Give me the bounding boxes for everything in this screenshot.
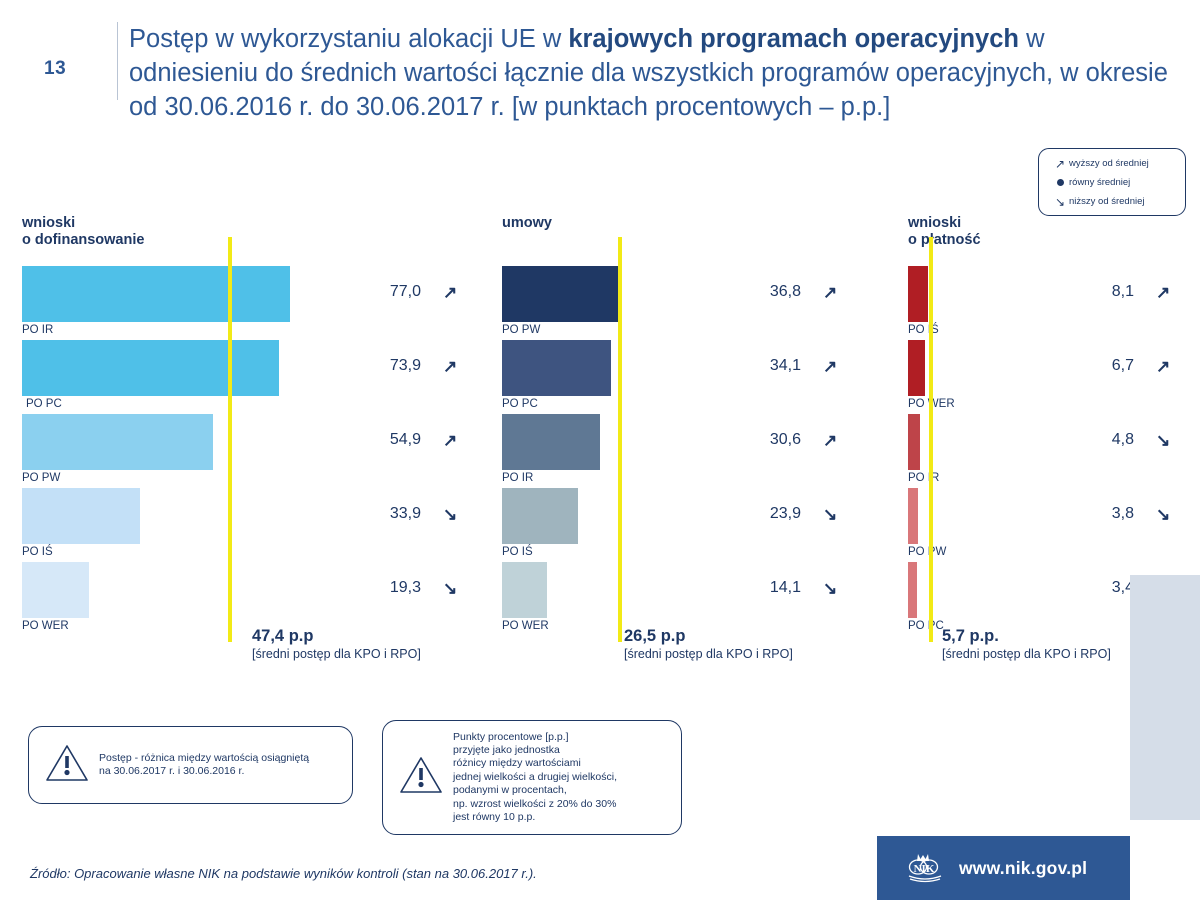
bar-value-group: 4,8↘ — [1088, 431, 1170, 449]
note-box-progress: Postęp - różnica między wartością osiągn… — [28, 726, 353, 804]
average-value: 47,4 p.p — [252, 627, 512, 646]
page-title: Postęp w wykorzystaniu alokacji UE w kra… — [129, 22, 1174, 124]
average-line — [228, 237, 232, 642]
bar-value-group: 3,8↘ — [1088, 505, 1170, 523]
arrow-up-right-icon: ↗ — [823, 432, 837, 449]
note-text: Punkty procentowe [p.p.] przyjęte jako j… — [453, 731, 617, 825]
bar-category-label: PO IR — [22, 324, 53, 336]
bar-value: 19,3 — [375, 579, 421, 597]
arrow-down-right-icon: ↘ — [443, 580, 457, 597]
dot-icon — [1051, 179, 1069, 186]
legend-item-label: niższy od średniej — [1069, 196, 1145, 207]
legend-item-label: równy średniej — [1069, 177, 1130, 188]
bar-value-group: 23,9↘ — [755, 505, 837, 523]
bar-po-wer — [22, 562, 89, 618]
bar-category-label: PO PC — [26, 398, 62, 410]
bar-category-label: PO IŚ — [908, 324, 939, 336]
title-emphasis: krajowych programach operacyjnych — [568, 25, 1019, 53]
title-part-1: Postęp w wykorzystaniu alokacji UE w — [129, 25, 568, 53]
bar-value-group: 54,9↗ — [375, 431, 457, 449]
legend-box: ↗wyższy od średniejrówny średniej↘niższy… — [1038, 148, 1186, 216]
panel-title: wnioski o płatność — [908, 215, 981, 249]
bar-po-iś — [908, 266, 928, 322]
arrow-up-right-icon: ↗ — [1156, 284, 1170, 301]
legend-item-2: ↘niższy od średniej — [1039, 192, 1185, 211]
arrow-up-right-icon: ↗ — [1051, 157, 1069, 171]
average-value: 26,5 p.p — [624, 627, 884, 646]
bar-value-group: 30,6↗ — [755, 431, 837, 449]
bar-po-pw — [502, 266, 620, 322]
slide: 13 Postęp w wykorzystaniu alokacji UE w … — [0, 0, 1200, 900]
panel-title: wnioski o dofinansowanie — [22, 215, 144, 249]
arrow-up-right-icon: ↗ — [443, 358, 457, 375]
svg-text:NIK: NIK — [914, 863, 935, 875]
arrow-down-right-icon: ↘ — [1156, 432, 1170, 449]
page-number: 13 — [44, 58, 66, 80]
bar-po-pc — [908, 562, 917, 618]
bar-category-label: PO PW — [502, 324, 540, 336]
bar-category-label: PO PW — [908, 546, 946, 558]
arrow-up-right-icon: ↗ — [443, 432, 457, 449]
arrow-down-right-icon: ↘ — [823, 506, 837, 523]
bar-value-group: 8,1↗ — [1088, 283, 1170, 301]
header-divider — [117, 22, 118, 100]
bar-value-group: 33,9↘ — [375, 505, 457, 523]
bar-category-label: PO IŚ — [502, 546, 533, 558]
bar-value: 3,4 — [1088, 579, 1134, 597]
bar-category-label: PO WER — [502, 620, 549, 632]
bar-value: 54,9 — [375, 431, 421, 449]
panel-title: umowy — [502, 215, 552, 232]
arrow-down-right-icon: ↘ — [443, 506, 457, 523]
bar-value-group: 73,9↗ — [375, 357, 457, 375]
note-text: Postęp - różnica między wartością osiągn… — [99, 752, 309, 779]
average-line — [618, 237, 622, 642]
arrow-up-right-icon: ↗ — [823, 284, 837, 301]
bar-po-ir — [502, 414, 600, 470]
average-caption: 47,4 p.p[średni postęp dla KPO i RPO] — [252, 627, 512, 662]
bar-po-ir — [908, 414, 920, 470]
legend-item-0: ↗wyższy od średniej — [1039, 154, 1185, 173]
bar-po-pc — [22, 340, 279, 396]
note-box-percentage-points: Punkty procentowe [p.p.] przyjęte jako j… — [382, 720, 682, 835]
bar-value-group: 19,3↘ — [375, 579, 457, 597]
footer-url[interactable]: www.nik.gov.pl — [959, 858, 1087, 879]
bar-value: 36,8 — [755, 283, 801, 301]
average-line — [929, 237, 933, 642]
bar-po-pw — [908, 488, 918, 544]
bar-value: 30,6 — [755, 431, 801, 449]
bar-po-iś — [22, 488, 140, 544]
bar-value: 34,1 — [755, 357, 801, 375]
warning-triangle-icon — [45, 743, 89, 788]
decorative-rectangle — [1130, 575, 1200, 820]
arrow-up-right-icon: ↗ — [1156, 358, 1170, 375]
bar-value-group: 36,8↗ — [755, 283, 837, 301]
arrow-down-right-icon: ↘ — [823, 580, 837, 597]
bar-value-group: 6,7↗ — [1088, 357, 1170, 375]
legend-item-label: wyższy od średniej — [1069, 158, 1149, 169]
footer-bar: NIK www.nik.gov.pl — [877, 836, 1130, 900]
bar-value: 33,9 — [375, 505, 421, 523]
arrow-up-right-icon: ↗ — [443, 284, 457, 301]
bar-category-label: PO WER — [22, 620, 69, 632]
nik-crown-logo-icon: NIK — [905, 849, 945, 888]
average-sublabel: [średni postęp dla KPO i RPO] — [252, 646, 512, 662]
warning-triangle-icon — [399, 755, 443, 800]
bar-category-label: PO IŚ — [22, 546, 53, 558]
bar-value-group: 34,1↗ — [755, 357, 837, 375]
bar-po-ir — [22, 266, 290, 322]
source-note: Źródło: Opracowanie własne NIK na podsta… — [30, 866, 537, 881]
bar-value: 14,1 — [755, 579, 801, 597]
bar-po-pc — [502, 340, 611, 396]
bar-value-group: 77,0↗ — [375, 283, 457, 301]
legend-item-1: równy średniej — [1039, 173, 1185, 192]
bar-value: 6,7 — [1088, 357, 1134, 375]
average-sublabel: [średni postęp dla KPO i RPO] — [624, 646, 884, 662]
bar-category-label: PO IR — [502, 472, 533, 484]
bar-value: 3,8 — [1088, 505, 1134, 523]
bar-value: 73,9 — [375, 357, 421, 375]
bar-value: 23,9 — [755, 505, 801, 523]
bar-po-wer — [502, 562, 547, 618]
bar-category-label: PO PC — [908, 620, 944, 632]
arrow-up-right-icon: ↗ — [823, 358, 837, 375]
bar-value-group: 14,1↘ — [755, 579, 837, 597]
average-caption: 26,5 p.p[średni postęp dla KPO i RPO] — [624, 627, 884, 662]
bar-value: 4,8 — [1088, 431, 1134, 449]
bar-po-iś — [502, 488, 578, 544]
bar-category-label: PO PC — [502, 398, 538, 410]
arrow-down-right-icon: ↘ — [1156, 506, 1170, 523]
arrow-down-right-icon: ↘ — [1051, 195, 1069, 209]
bar-category-label: PO PW — [22, 472, 60, 484]
bar-value: 77,0 — [375, 283, 421, 301]
bar-category-label: PO IR — [908, 472, 939, 484]
bar-po-wer — [908, 340, 925, 396]
bar-po-pw — [22, 414, 213, 470]
bar-value: 8,1 — [1088, 283, 1134, 301]
